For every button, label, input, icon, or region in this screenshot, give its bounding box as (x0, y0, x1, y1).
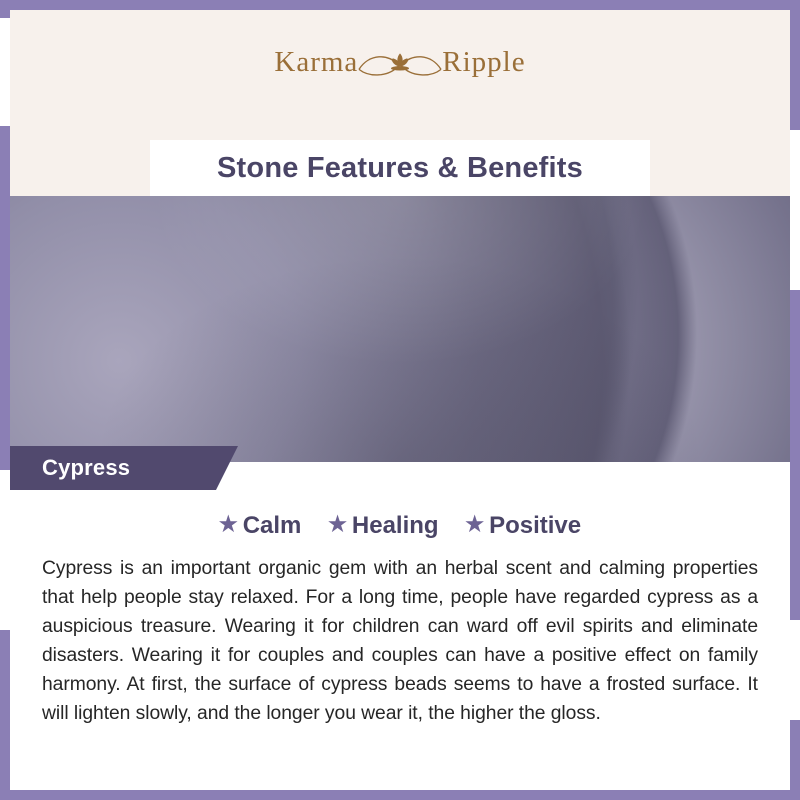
keyword-label: Healing (352, 512, 439, 539)
star-icon: ★ (465, 513, 484, 536)
photo-overlay (10, 196, 790, 462)
body-section: ★Calm ★Healing ★Positive Cypress is an i… (10, 490, 790, 790)
lotus-infinity-ornament-icon (355, 47, 445, 81)
frame-corner (790, 0, 800, 10)
description-paragraph: Cypress is an important organic gem with… (42, 554, 758, 728)
keyword-item: ★Positive (465, 512, 581, 540)
stone-name-label: Cypress (42, 455, 130, 481)
frame-gap (0, 470, 10, 630)
brand-logo-text: KarmaRipple (274, 46, 525, 79)
title-ribbon: Stone Features & Benefits (150, 140, 650, 196)
brand-logo: KarmaRipple (10, 46, 790, 79)
infographic-page: KarmaRipple Stone Features & Benefits Cy… (0, 0, 800, 800)
frame-gap (790, 130, 800, 290)
frame-corner (0, 0, 10, 10)
frame-bottom (0, 790, 800, 800)
frame-gap (790, 620, 800, 720)
star-icon: ★ (219, 513, 238, 536)
keyword-list: ★Calm ★Healing ★Positive (10, 512, 790, 540)
brand-name-part1: Karma (274, 46, 358, 78)
keyword-item: ★Calm (219, 512, 302, 540)
frame-corner (0, 790, 10, 800)
stone-name-tab: Cypress (10, 446, 216, 490)
star-icon: ★ (328, 513, 347, 536)
keyword-label: Positive (489, 512, 581, 539)
frame-top (0, 0, 800, 10)
brand-name-part2: Ripple (442, 46, 525, 78)
frame-gap (0, 18, 10, 126)
keyword-item: ★Healing (328, 512, 439, 540)
keyword-label: Calm (243, 512, 302, 539)
page-title: Stone Features & Benefits (217, 152, 583, 185)
frame-corner (790, 790, 800, 800)
cypress-stone-beads-photo (10, 196, 790, 462)
